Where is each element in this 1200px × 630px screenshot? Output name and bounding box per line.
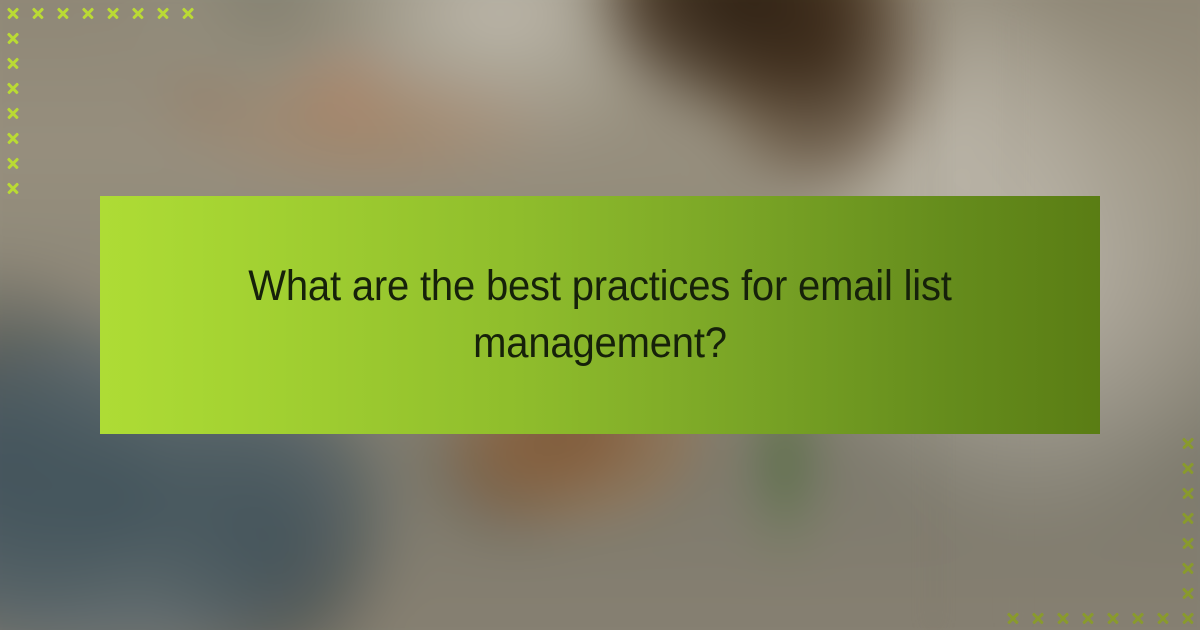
quote-text: What are the best practices for email li…	[178, 258, 1022, 372]
quote-banner: What are the best practices for email li…	[100, 196, 1100, 434]
